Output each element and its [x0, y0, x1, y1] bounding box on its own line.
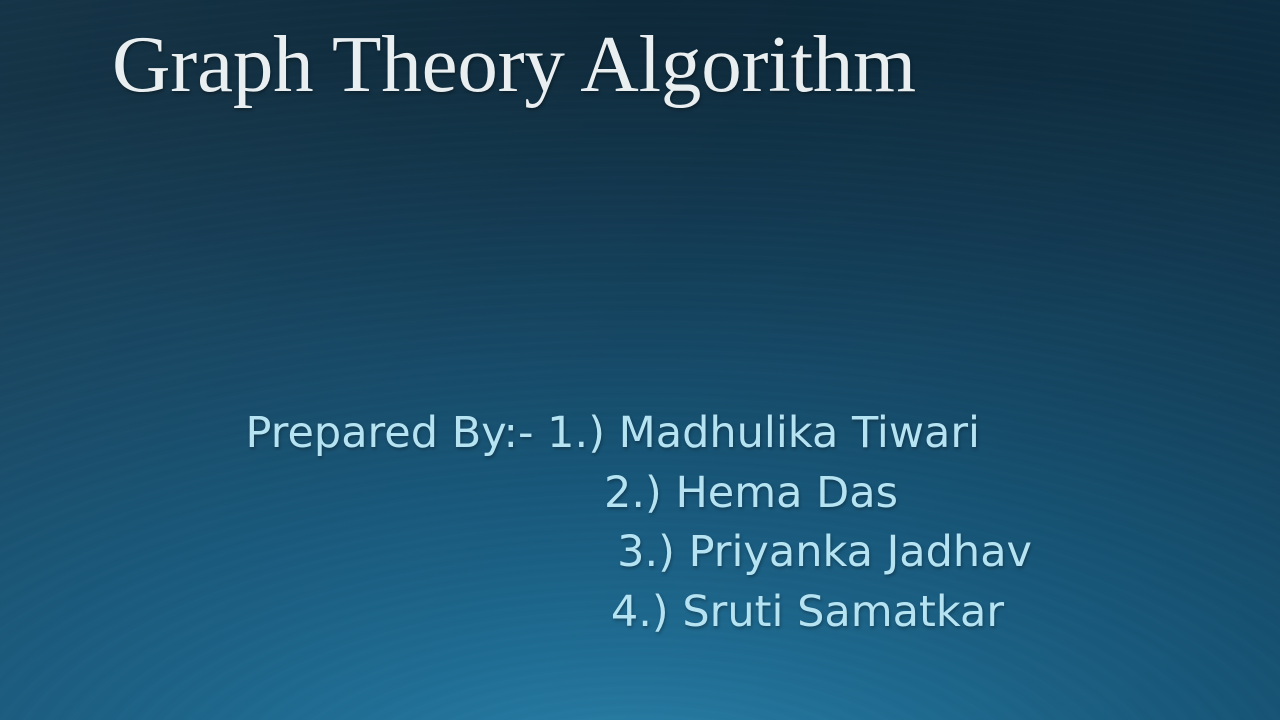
author-line-4: 4.) Sruti Samatkar: [120, 583, 1004, 643]
author-list-block: Prepared By:- 1.) Madhulika Tiwari 2.) H…: [120, 404, 980, 642]
presentation-slide: Graph Theory Algorithm Prepared By:- 1.)…: [0, 0, 1280, 720]
author-line-2: 2.) Hema Das: [120, 464, 980, 524]
title-block: Graph Theory Algorithm: [112, 22, 1172, 108]
author-line-3: 3.) Priyanka Jadhav: [120, 523, 1032, 583]
author-line-1: Prepared By:- 1.) Madhulika Tiwari: [120, 404, 980, 464]
slide-title: Graph Theory Algorithm: [112, 22, 1172, 108]
